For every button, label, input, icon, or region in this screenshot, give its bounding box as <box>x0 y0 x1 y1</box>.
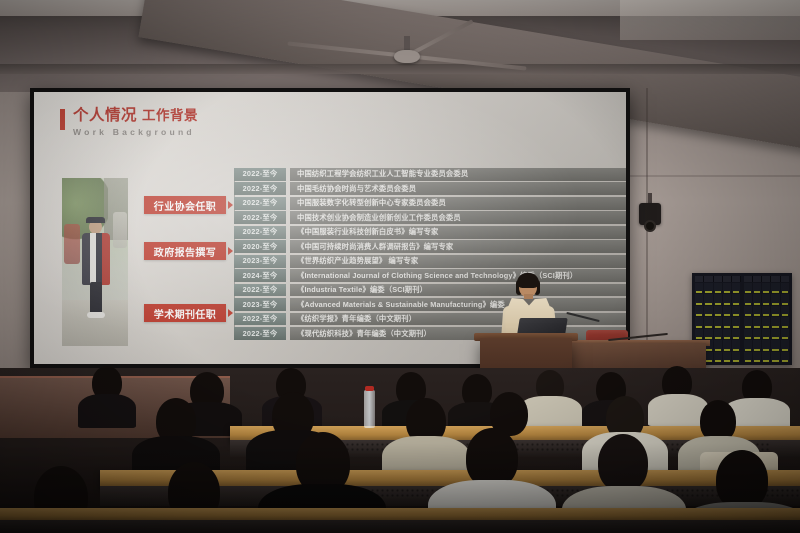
row-date: 2022-至今 <box>234 197 286 210</box>
slide-title-primary: 个人情况 <box>73 107 137 124</box>
row-text: 《Advanced Materials & Sustainable Manufa… <box>290 298 626 311</box>
key-board-right-half <box>744 276 790 362</box>
row-text: 《世界纺织产业趋势展望》 编写专家 <box>290 255 626 268</box>
category-tag-industry-association: 行业协会任职 <box>144 196 226 214</box>
lecture-hall-photo: 个人情况工作背景 Work Background 行业协会任职 政府 <box>0 0 800 533</box>
audience-desk-front <box>0 520 800 533</box>
audience-shoulders <box>648 394 708 426</box>
row-text: 《International Journal of Clothing Scien… <box>290 269 626 282</box>
academic-gown <box>82 233 110 285</box>
arrow-right-icon <box>228 201 233 209</box>
key-board-row <box>695 317 741 327</box>
photo-figure-legs <box>90 282 102 314</box>
key-board-row <box>695 294 741 304</box>
table-row: 2022-至今 中国技术创业协会制造业创新创业工作委员会委员 <box>234 211 626 224</box>
photo-bystander-right <box>113 212 127 248</box>
photo-graduate-figure <box>82 220 110 320</box>
slide-subtitle: Work Background <box>73 127 198 137</box>
row-text: 《Industria Textile》编委（SCI期刊） <box>290 284 626 297</box>
ceiling-fan-hub <box>394 50 420 63</box>
key-board-row <box>695 306 741 316</box>
table-row: 2022-至今 《Industria Textile》编委（SCI期刊） <box>234 284 626 297</box>
row-date: 2023-至今 <box>234 255 286 268</box>
table-row: 2022-至今 中国纺织工程学会纺织工业人工智能专业委员会委员 <box>234 168 626 181</box>
audience-head <box>716 450 768 510</box>
key-board-row <box>744 329 790 339</box>
audience-shoulders <box>78 394 136 428</box>
row-text: 中国毛纺协会时尚与艺术委员会委员 <box>290 182 626 195</box>
key-board-header <box>744 276 790 282</box>
table-row: 2022-至今 中国服装数字化转型创新中心专家委员会委员 <box>234 197 626 210</box>
water-bottle <box>364 390 375 428</box>
row-date: 2022-至今 <box>234 284 286 297</box>
key-board-row <box>744 283 790 293</box>
photo-bystander-left <box>64 224 80 264</box>
key-board-row <box>744 340 790 350</box>
ceiling-light-patch <box>620 0 800 40</box>
row-text: 中国服装数字化转型创新中心专家委员会委员 <box>290 197 626 210</box>
table-row: 2022-至今 中国毛纺协会时尚与艺术委员会委员 <box>234 182 626 195</box>
row-text: 中国纺织工程学会纺织工业人工智能专业委员会委员 <box>290 168 626 181</box>
row-date: 2022-至今 <box>234 182 286 195</box>
table-row: 2023-至今 《Advanced Materials & Sustainabl… <box>234 298 626 311</box>
row-text: 《中国服装行业科技创新白皮书》编写专家 <box>290 226 626 239</box>
category-tag-government-report: 政府报告撰写 <box>144 242 226 260</box>
table-row: 2024-至今 《International Journal of Clothi… <box>234 269 626 282</box>
row-text: 中国技术创业协会制造业创新创业工作委员会委员 <box>290 211 626 224</box>
key-board-row <box>744 294 790 304</box>
arrow-right-icon <box>228 247 233 255</box>
slide-portrait-photo <box>62 178 128 346</box>
table-row: 2022-至今 《中国服装行业科技创新白皮书》编写专家 <box>234 226 626 239</box>
key-board-row <box>695 329 741 339</box>
row-date: 2024-至今 <box>234 269 286 282</box>
audience-head <box>598 434 648 492</box>
table-row: 2020-至今 《中国可持续时尚消费人群调研报告》编写专家 <box>234 240 626 253</box>
row-date: 2022-至今 <box>234 226 286 239</box>
photo-figure-shoes <box>87 312 105 318</box>
ceiling-beam-secondary <box>0 64 800 74</box>
page-title: 个人情况工作背景 <box>73 108 198 124</box>
bottle-cap <box>365 386 374 391</box>
key-board-row <box>695 283 741 293</box>
numbered-key-board <box>692 273 792 365</box>
table-row: 2023-至今 《世界纺织产业趋势展望》 编写专家 <box>234 255 626 268</box>
arrow-right-icon <box>228 309 233 317</box>
title-accent-bar <box>60 109 65 130</box>
credential-rows: 2022-至今 中国纺织工程学会纺织工业人工智能专业委员会委员 2022-至今 … <box>234 168 626 342</box>
presenter-hair <box>517 273 539 288</box>
slide-title-block: 个人情况工作背景 Work Background <box>60 108 198 137</box>
key-board-row <box>744 352 790 362</box>
row-date: 2023-至今 <box>234 298 286 311</box>
audience-head <box>466 428 518 488</box>
row-date: 2022-至今 <box>234 313 286 326</box>
row-text: 《中国可持续时尚消费人群调研报告》编写专家 <box>290 240 626 253</box>
graduation-cap-icon <box>86 217 105 223</box>
slide-title-secondary: 工作背景 <box>142 108 198 123</box>
key-board-row <box>744 306 790 316</box>
row-date: 2022-至今 <box>234 211 286 224</box>
wall-camera-lens-icon <box>644 220 656 232</box>
key-board-row <box>744 317 790 327</box>
row-date: 2022-至今 <box>234 168 286 181</box>
row-date: 2022-至今 <box>234 327 286 340</box>
category-tag-academic-journal: 学术期刊任职 <box>144 304 226 322</box>
row-date: 2020-至今 <box>234 240 286 253</box>
key-board-header <box>695 276 741 282</box>
